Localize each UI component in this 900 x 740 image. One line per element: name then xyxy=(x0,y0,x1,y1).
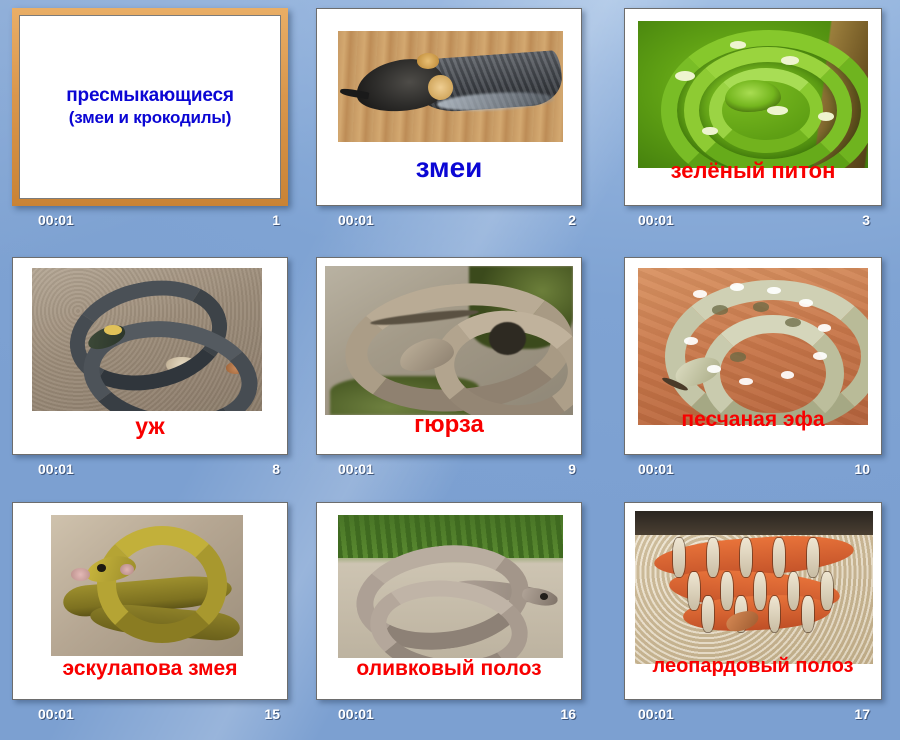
title-line-1: пресмыкающиеся xyxy=(20,85,280,107)
slide-thumbnail-wrap-3[interactable]: зелёный питон xyxy=(624,8,882,206)
grass-snake-head-photo xyxy=(338,31,562,143)
olive-whip-snake-photo xyxy=(338,515,562,658)
slide-thumbnail-wrap-10[interactable]: песчаная эфа xyxy=(624,257,882,455)
slide-canvas-17: леопардовый полоз xyxy=(625,503,881,699)
saw-scaled-viper-photo xyxy=(638,268,868,425)
slide-meta-9: 00:01 9 xyxy=(318,461,584,481)
slide-cell-8[interactable]: уж 00:01 8 xyxy=(0,249,300,495)
title-text-block: пресмыкающиеся (змеи и крокодилы) xyxy=(20,85,280,127)
slide-caption: зелёный питон xyxy=(625,160,881,182)
slide-number: 2 xyxy=(568,212,576,228)
slide-thumbnail-17[interactable]: леопардовый полоз xyxy=(624,502,882,700)
slide-thumbnail-wrap-16[interactable]: оливковый полоз xyxy=(316,502,582,700)
slide-canvas-1: пресмыкающиеся (змеи и крокодилы) xyxy=(19,15,281,199)
slide-cell-15[interactable]: эскулапова змея 00:01 15 xyxy=(0,494,300,740)
slide-thumbnail-wrap-8[interactable]: уж xyxy=(12,257,288,455)
green-tree-python-photo xyxy=(638,21,868,168)
slide-canvas-10: песчаная эфа xyxy=(625,258,881,454)
slide-timing: 00:01 xyxy=(338,461,374,477)
slide-caption: леопардовый полоз xyxy=(625,656,881,676)
slide-thumbnail-3[interactable]: зелёный питон xyxy=(624,8,882,206)
slide-canvas-9: гюрза xyxy=(317,258,581,454)
slide-sorter-pane: пресмыкающиеся (змеи и крокодилы) 00:01 … xyxy=(0,0,900,740)
slide-caption: оливковый полоз xyxy=(317,658,581,679)
slide-cell-17[interactable]: леопардовый полоз 00:01 17 xyxy=(600,494,900,740)
slide-timing: 00:01 xyxy=(638,212,674,228)
slide-thumbnail-wrap-9[interactable]: гюрза xyxy=(316,257,582,455)
slide-timing: 00:01 xyxy=(38,212,74,228)
leopard-rat-snake-photo xyxy=(635,511,873,664)
slide-thumbnail-10[interactable]: песчаная эфа xyxy=(624,257,882,455)
slide-canvas-16: оливковый полоз xyxy=(317,503,581,699)
slide-meta-3: 00:01 3 xyxy=(626,212,878,232)
slide-meta-1: 00:01 1 xyxy=(12,212,288,232)
slide-meta-2: 00:01 2 xyxy=(318,212,584,232)
slide-cell-3[interactable]: зелёный питон 00:01 3 xyxy=(600,0,900,246)
slide-thumbnail-2[interactable]: змеи xyxy=(316,8,582,206)
slide-number: 8 xyxy=(272,461,280,477)
slide-canvas-8: уж xyxy=(13,258,287,454)
slide-thumbnail-wrap-2[interactable]: змеи xyxy=(316,8,582,206)
slide-caption: змеи xyxy=(317,154,581,182)
slide-timing: 00:01 xyxy=(338,212,374,228)
slide-thumbnail-15[interactable]: эскулапова змея xyxy=(12,502,288,700)
slide-timing: 00:01 xyxy=(338,706,374,722)
title-line-2: (змеи и крокодилы) xyxy=(20,108,280,128)
slide-cell-1[interactable]: пресмыкающиеся (змеи и крокодилы) 00:01 … xyxy=(0,0,300,246)
slide-caption: эскулапова змея xyxy=(13,658,287,679)
slide-thumbnail-wrap-15[interactable]: эскулапова змея xyxy=(12,502,288,700)
slide-thumbnail-9[interactable]: гюрза xyxy=(316,257,582,455)
slide-caption: песчаная эфа xyxy=(625,409,881,430)
slide-timing: 00:01 xyxy=(638,706,674,722)
slide-number: 9 xyxy=(568,461,576,477)
blunt-nosed-viper-photo xyxy=(325,266,573,415)
slide-thumbnail-16[interactable]: оливковый полоз xyxy=(316,502,582,700)
slide-cell-10[interactable]: песчаная эфа 00:01 10 xyxy=(600,249,900,495)
slide-canvas-3: зелёный питон xyxy=(625,9,881,205)
grass-snake-coiled-photo xyxy=(32,268,262,411)
slide-number: 16 xyxy=(560,706,576,722)
slide-number: 3 xyxy=(862,212,870,228)
slide-cell-9[interactable]: гюрза 00:01 9 xyxy=(300,249,600,495)
slide-thumbnail-8[interactable]: уж xyxy=(12,257,288,455)
slide-timing: 00:01 xyxy=(638,461,674,477)
slide-cell-2[interactable]: змеи 00:01 2 xyxy=(300,0,600,246)
slide-number: 1 xyxy=(272,212,280,228)
slide-thumbnail-wrap-1[interactable]: пресмыкающиеся (змеи и крокодилы) xyxy=(12,8,288,206)
slide-meta-16: 00:01 16 xyxy=(318,706,584,726)
slide-number: 15 xyxy=(264,706,280,722)
slide-thumbnail-wrap-17[interactable]: леопардовый полоз xyxy=(624,502,882,700)
slide-meta-8: 00:01 8 xyxy=(12,461,288,481)
slide-grid: пресмыкающиеся (змеи и крокодилы) 00:01 … xyxy=(0,0,900,740)
aesculapian-snake-photo xyxy=(51,515,243,656)
slide-meta-17: 00:01 17 xyxy=(626,706,878,726)
slide-thumbnail-1[interactable]: пресмыкающиеся (змеи и крокодилы) xyxy=(12,8,288,206)
slide-number: 17 xyxy=(854,706,870,722)
slide-meta-15: 00:01 15 xyxy=(12,706,288,726)
slide-timing: 00:01 xyxy=(38,461,74,477)
slide-timing: 00:01 xyxy=(38,706,74,722)
slide-canvas-2: змеи xyxy=(317,9,581,205)
slide-caption: гюрза xyxy=(317,413,581,437)
slide-number: 10 xyxy=(854,461,870,477)
slide-caption: уж xyxy=(13,415,287,438)
slide-meta-10: 00:01 10 xyxy=(626,461,878,481)
slide-canvas-15: эскулапова змея xyxy=(13,503,287,699)
slide-cell-16[interactable]: оливковый полоз 00:01 16 xyxy=(300,494,600,740)
